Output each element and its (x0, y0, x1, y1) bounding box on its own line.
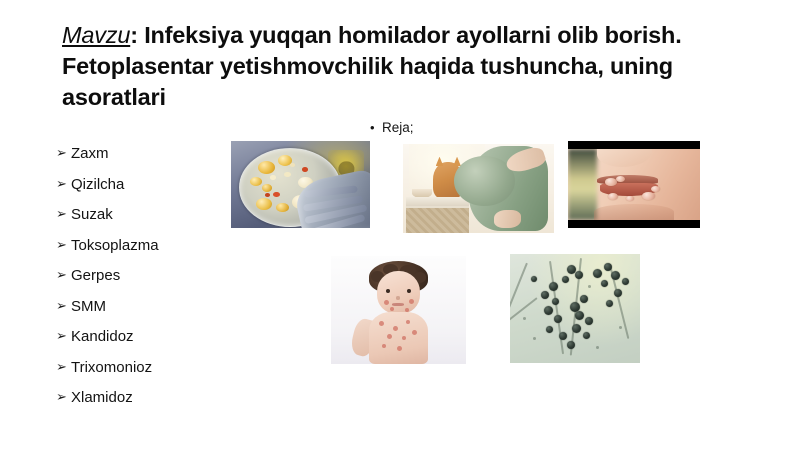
child-background (331, 256, 466, 364)
list-item: ➢ SMM (56, 299, 246, 330)
spore (562, 276, 569, 283)
spore (572, 324, 581, 333)
table-top-shape (406, 197, 469, 206)
colony (302, 167, 308, 172)
list-item: ➢ Qizilcha (56, 177, 246, 208)
chin-shadow (594, 204, 673, 220)
list-item: ➢ Toksoplazma (56, 238, 246, 269)
image-petri-dish-bacterial-colonies (231, 141, 370, 228)
spore (583, 332, 590, 339)
colony (273, 192, 280, 197)
rash-dot (390, 307, 394, 311)
spore (567, 341, 575, 349)
arrow-bullet-icon: ➢ (56, 207, 71, 220)
list-item-label: Trixomonioz (71, 360, 152, 375)
colony (290, 163, 295, 167)
arrow-bullet-icon: ➢ (56, 390, 71, 403)
round-bullet-icon: • (370, 121, 382, 134)
rash-dot (387, 334, 392, 339)
arrow-bullet-icon: ➢ (56, 268, 71, 281)
spore (575, 271, 583, 279)
colony (276, 203, 289, 213)
list-item: ➢ Kandidoz (56, 329, 246, 360)
herpes-lesion (626, 196, 634, 201)
colony (262, 184, 272, 192)
rash-dot (406, 320, 410, 324)
debris (533, 337, 536, 340)
presentation-slide: Mavzu: Infeksiya yuqqan homilador ayolla… (0, 0, 800, 449)
mouth (392, 303, 403, 306)
title-rest: Infeksiya yuqqan homilador ayollarni oli… (62, 22, 682, 110)
list-item-label: Kandidoz (71, 329, 134, 344)
list-item-label: SMM (71, 299, 106, 314)
background-blur (568, 149, 597, 220)
spore (544, 306, 553, 315)
arrow-bullet-icon: ➢ (56, 360, 71, 373)
microscopy-background (510, 254, 640, 363)
title-lead-word: Mavzu (62, 22, 130, 48)
colony (250, 177, 262, 186)
colony (270, 175, 276, 180)
herpes-lesion (642, 192, 655, 201)
colony (256, 198, 272, 210)
slide-title: Mavzu: Infeksiya yuqqan homilador ayolla… (62, 20, 702, 113)
spore (575, 311, 584, 320)
eye (386, 289, 390, 293)
list-item-label: Toksoplazma (71, 238, 159, 253)
nose-shape (597, 149, 652, 167)
list-item: ➢ Xlamidoz (56, 390, 246, 421)
spore (531, 276, 537, 282)
nose (396, 296, 400, 299)
hand-shape (494, 210, 521, 228)
spore (606, 300, 613, 307)
pregnant-background (403, 144, 554, 233)
spore (622, 278, 629, 285)
infection-list: ➢ Zaxm ➢ Qizilcha ➢ Suzak ➢ Toksoplazma … (56, 146, 246, 421)
list-item-label: Xlamidoz (71, 390, 133, 405)
arrow-bullet-icon: ➢ (56, 177, 71, 190)
plan-label: Reja; (382, 120, 414, 135)
glove-finger (304, 186, 358, 198)
image-candida-microscopy (510, 254, 640, 363)
arrow-bullet-icon: ➢ (56, 146, 71, 159)
image-child-with-rash (331, 256, 466, 364)
spore (552, 298, 559, 305)
arrow-bullet-icon: ➢ (56, 299, 71, 312)
spore (585, 317, 593, 325)
spore (549, 282, 558, 291)
spore (541, 291, 549, 299)
spore (593, 269, 602, 278)
debris (523, 317, 526, 320)
title-separator: : (130, 22, 144, 48)
rash-dot (397, 346, 402, 351)
list-item-label: Zaxm (71, 146, 109, 161)
rash-dot (382, 344, 386, 348)
colony (265, 193, 270, 197)
list-item-label: Gerpes (71, 268, 120, 283)
rash-dot (402, 336, 406, 340)
spore (611, 271, 620, 280)
spore (559, 332, 567, 340)
colony (284, 172, 291, 177)
list-item: ➢ Trixomonioz (56, 360, 246, 391)
rash-dot (379, 321, 384, 326)
image-herpes-lips-closeup (568, 141, 700, 228)
image-pregnant-woman-with-cat (403, 144, 554, 233)
rash-dot (409, 299, 414, 304)
list-item-label: Qizilcha (71, 177, 124, 192)
rash-dot (393, 326, 398, 331)
eye (407, 289, 411, 293)
herpes-lesion (608, 193, 619, 200)
child-body-shape (369, 312, 428, 364)
debris (596, 346, 599, 349)
spore (601, 280, 608, 287)
spore (554, 315, 562, 323)
herpes-lesion (651, 186, 660, 192)
rash-dot (384, 300, 389, 305)
arrow-bullet-icon: ➢ (56, 238, 71, 251)
spore (580, 295, 588, 303)
debris (619, 326, 622, 329)
spore (604, 263, 612, 271)
child-head-shape (377, 271, 420, 314)
list-item: ➢ Gerpes (56, 268, 246, 299)
dresser-shape (406, 206, 469, 233)
list-item: ➢ Suzak (56, 207, 246, 238)
rash-dot (412, 330, 417, 335)
debris (588, 285, 591, 288)
list-item-label: Suzak (71, 207, 113, 222)
plan-bullet-line: • Reja; (370, 120, 414, 135)
petri-background (231, 141, 370, 228)
spore (546, 326, 553, 333)
arrow-bullet-icon: ➢ (56, 329, 71, 342)
hypha-filament (510, 262, 528, 309)
colony (258, 161, 275, 174)
spore (614, 289, 622, 297)
lips-photo-area (568, 149, 700, 220)
list-item: ➢ Zaxm (56, 146, 246, 177)
